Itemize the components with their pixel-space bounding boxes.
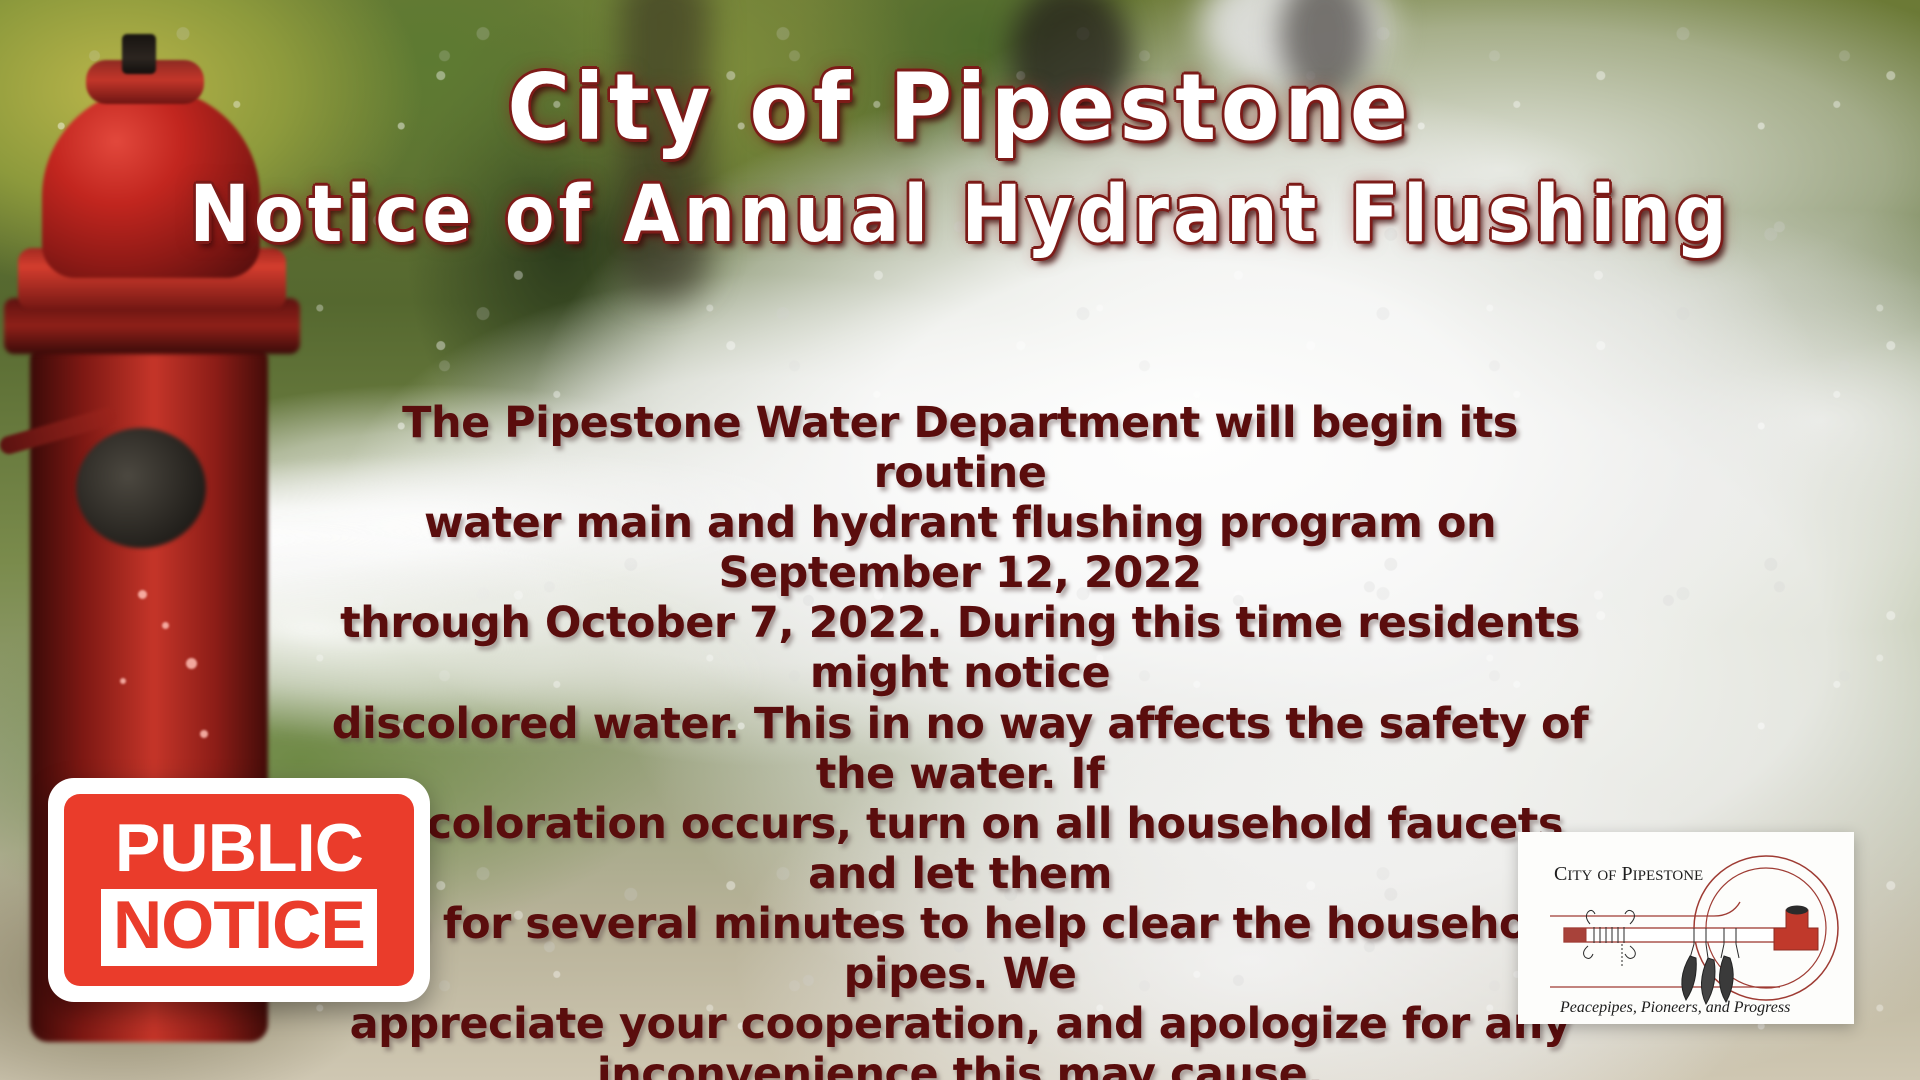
water-droplet [120,678,126,684]
public-notice-badge-panel: PUBLIC NOTICE [64,794,414,986]
water-droplet [186,658,197,669]
water-droplet [138,590,147,599]
hydrant-dome [42,88,260,278]
background-tree-trunk [620,0,710,300]
hydrant-outlet-port [76,428,206,548]
logo-tagline: Peacepipes, Pioneers, and Progress [1559,999,1790,1016]
public-notice-badge: PUBLIC NOTICE [48,778,430,1002]
water-droplet [200,730,208,738]
city-of-pipestone-logo: CITY OF PIPESTONE Peacepipes, Pioneers, … [1518,832,1854,1024]
public-notice-poster: City of Pipestone Notice of Annual Hydra… [0,0,1920,1080]
badge-label-public: PUBLIC [115,814,363,883]
water-droplet [162,622,169,629]
hydrant-top-nut [122,34,156,74]
badge-label-notice: NOTICE [101,889,377,966]
